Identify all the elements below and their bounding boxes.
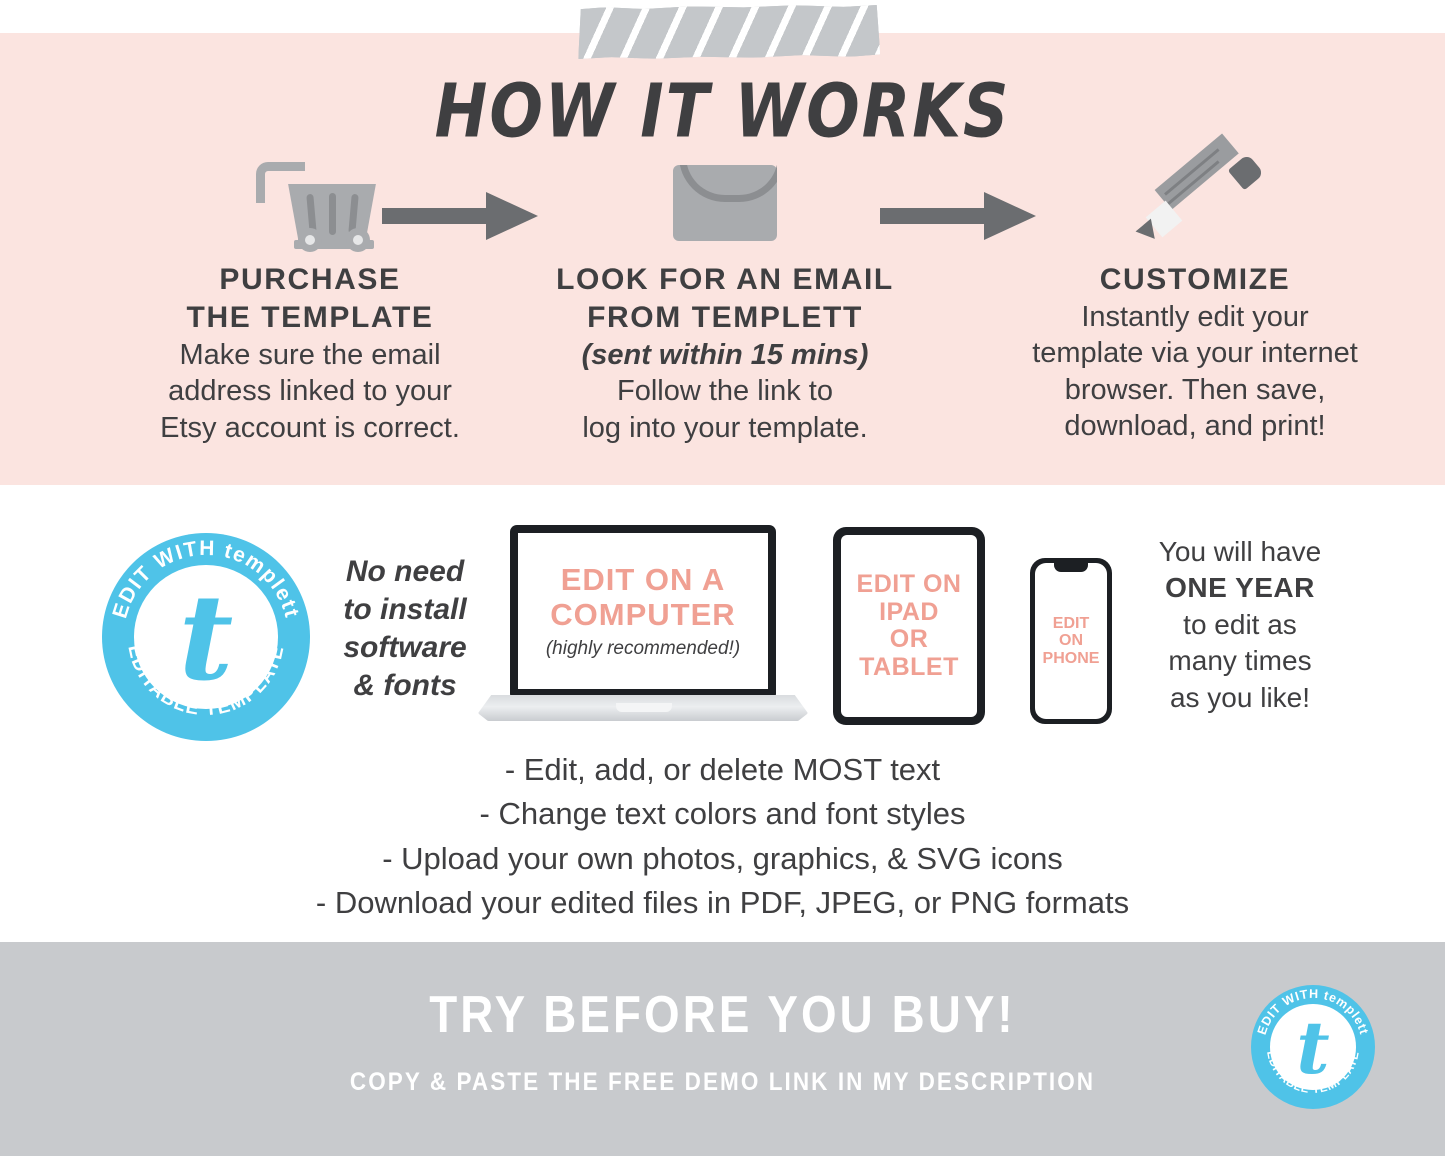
no-need-line: to install [330, 591, 480, 629]
step-body-line: Etsy account is correct. [95, 410, 525, 447]
laptop-illustration: EDIT ON A COMPUTER (highly recommended!) [478, 525, 808, 730]
laptop-screen-heading: EDIT ON A COMPUTER [550, 562, 735, 632]
step-body-line: download, and print! [980, 408, 1410, 445]
no-need-line: & fonts [330, 667, 480, 705]
laptop-screen: EDIT ON A COMPUTER (highly recommended!) [518, 533, 768, 689]
step-body: (sent within 15 mins) Follow the link to… [510, 337, 940, 447]
footer-title: TRY BEFORE YOU BUY! [87, 985, 1359, 1045]
step-body: Instantly edit your template via your in… [980, 299, 1410, 445]
step-body-line: log into your template. [510, 410, 940, 447]
tablet-illustration: EDIT ON IPAD OR TABLET [833, 527, 985, 725]
cart-wheel [298, 228, 322, 252]
no-need-line: No need [330, 553, 480, 591]
one-year-line: many times [1120, 643, 1360, 679]
washi-tape-icon [578, 4, 881, 59]
one-year-emphasis: ONE YEAR [1165, 572, 1315, 603]
no-need-line: software [330, 629, 480, 667]
badge-center-letter: t [102, 533, 310, 741]
no-need-text: No need to install software & fonts [330, 553, 480, 705]
tablet-screen: EDIT ON IPAD OR TABLET [841, 535, 977, 717]
step-heading-line: LOOK FOR AN EMAIL [510, 261, 940, 299]
step-heading: LOOK FOR AN EMAIL FROM TEMPLETT [510, 261, 940, 337]
phone-notch [1054, 563, 1088, 572]
tablet-screen-line: IPAD [857, 599, 962, 627]
step-icon-slot [95, 150, 525, 255]
step-body-line: Make sure the email [95, 337, 525, 374]
laptop-screen-sub: (highly recommended!) [546, 638, 740, 660]
feature-list: - Edit, add, or delete MOST text - Chang… [0, 748, 1445, 925]
step-look-for-email: LOOK FOR AN EMAIL FROM TEMPLETT (sent wi… [510, 150, 940, 446]
one-year-text: You will have ONE YEAR to edit as many t… [1120, 534, 1360, 716]
list-item: - Upload your own photos, graphics, & SV… [0, 837, 1445, 881]
footer-subtitle: COPY & PASTE THE FREE DEMO LINK IN MY DE… [72, 1068, 1373, 1097]
step-body-line: Instantly edit your [980, 299, 1410, 336]
step-body: Make sure the email address linked to yo… [95, 337, 525, 447]
list-item: - Download your edited files in PDF, JPE… [0, 881, 1445, 925]
cart-wheel [346, 228, 370, 252]
list-item: - Edit, add, or delete MOST text [0, 748, 1445, 792]
list-item: - Change text colors and font styles [0, 792, 1445, 836]
step-heading-line: THE TEMPLATE [95, 299, 525, 337]
step-heading: PURCHASE THE TEMPLATE [95, 261, 525, 337]
step-icon-slot [980, 150, 1410, 255]
phone-screen-line: PHONE [1043, 650, 1100, 667]
laptop-trackpad-notch [616, 703, 672, 712]
page-title: HOW IT WORKS [0, 68, 1445, 154]
envelope-icon [673, 165, 777, 241]
pencil-icon [1135, 151, 1255, 255]
step-body-italic: (sent within 15 mins) [510, 337, 940, 374]
one-year-line: to edit as [1120, 607, 1360, 643]
step-icon-slot [510, 150, 940, 255]
step-heading: CUSTOMIZE [980, 261, 1410, 299]
cart-slot [329, 193, 336, 235]
templett-badge-icon: EDIT WITH templett EDITABLE TEMPLATE t [102, 533, 310, 741]
footer-section [0, 942, 1445, 1156]
envelope-flap [673, 165, 777, 211]
tablet-screen-line: OR [857, 626, 962, 654]
phone-illustration: EDIT ON PHONE [1030, 558, 1112, 724]
step-heading-line: CUSTOMIZE [980, 261, 1410, 299]
how-it-works-infographic: HOW IT WORKS PURCHASE THE TEMPLATE [0, 0, 1445, 1156]
step-body-line: address linked to your [95, 373, 525, 410]
pencil-eraser [1228, 153, 1265, 190]
phone-screen: EDIT ON PHONE [1035, 563, 1107, 719]
step-heading-line: PURCHASE [95, 261, 525, 299]
one-year-line: You will have [1120, 534, 1360, 570]
laptop-screen-line: COMPUTER [550, 597, 735, 632]
tablet-screen-line: EDIT ON [857, 571, 962, 599]
shopping-cart-icon [250, 154, 370, 252]
step-customize: CUSTOMIZE Instantly edit your template v… [980, 150, 1410, 445]
tablet-screen-text: EDIT ON IPAD OR TABLET [857, 571, 962, 681]
one-year-line: as you like! [1120, 680, 1360, 716]
step-purchase: PURCHASE THE TEMPLATE Make sure the emai… [95, 150, 525, 446]
tablet-screen-line: TABLET [857, 654, 962, 682]
laptop-lid: EDIT ON A COMPUTER (highly recommended!) [510, 525, 776, 697]
badge-center-letter: t [1251, 985, 1375, 1109]
step-heading-line: FROM TEMPLETT [510, 299, 940, 337]
phone-screen-line: EDIT [1043, 615, 1100, 632]
templett-badge-icon: EDIT WITH templett EDITABLE TEMPLATE t [1251, 985, 1375, 1109]
step-body-line: browser. Then save, [980, 372, 1410, 409]
laptop-screen-line: EDIT ON A [550, 562, 735, 597]
phone-screen-text: EDIT ON PHONE [1043, 615, 1100, 667]
step-body-line: Follow the link to [510, 373, 940, 410]
phone-screen-line: ON [1043, 632, 1100, 649]
step-body-line: template via your internet [980, 335, 1410, 372]
